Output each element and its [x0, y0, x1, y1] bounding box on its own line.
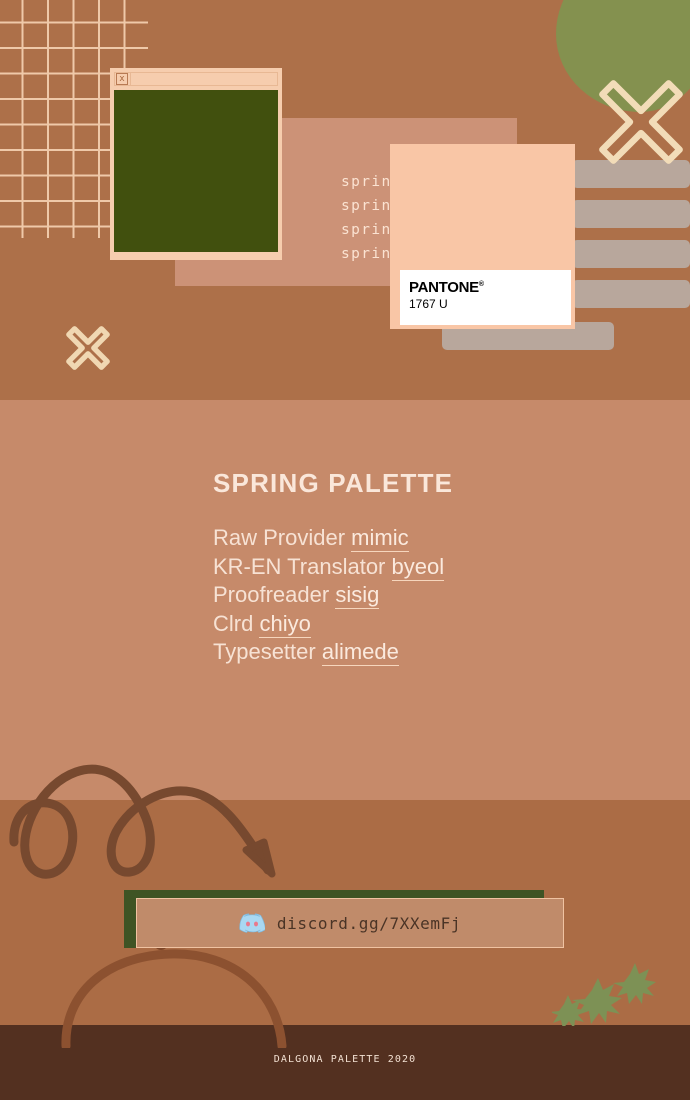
- leaf-cluster-icon: [552, 960, 672, 1026]
- poster-canvas: x spring palette spring palette spring p…: [0, 0, 690, 1100]
- curved-arrow-icon: [6, 722, 306, 882]
- discord-logo-icon: [239, 913, 265, 933]
- footer-caption: DALGONA PALETTE 2020: [0, 1054, 690, 1065]
- page-title: SPRING PALETTE: [213, 468, 633, 499]
- credit-role: Typesetter: [213, 639, 316, 664]
- credits-section: SPRING PALETTE Raw Provider mimic KR-EN …: [213, 468, 633, 667]
- credit-row: Clrd chiyo: [213, 610, 633, 639]
- discord-bar[interactable]: discord.gg/7XXemFj: [136, 898, 564, 948]
- retro-window: x: [110, 68, 282, 260]
- credit-name: mimic: [351, 525, 408, 552]
- pantone-brand-text: PANTONE: [409, 279, 479, 296]
- cross-outline-icon: [595, 76, 687, 168]
- discord-invite-link[interactable]: discord.gg/7XXemFj: [277, 914, 461, 933]
- grey-tab: [572, 200, 690, 228]
- grey-tab: [572, 280, 690, 308]
- pantone-swatch: [390, 144, 575, 270]
- credit-name: byeol: [392, 554, 445, 581]
- pantone-card: PANTONE® 1767 U: [390, 144, 575, 329]
- window-titlebar: x: [114, 72, 278, 86]
- credit-role: Proofreader: [213, 582, 329, 607]
- window-canvas: [114, 90, 278, 252]
- credit-role: KR-EN Translator: [213, 554, 385, 579]
- credit-role: Raw Provider: [213, 525, 345, 550]
- credit-row: Raw Provider mimic: [213, 524, 633, 553]
- credit-name: sisig: [335, 582, 379, 609]
- credit-row: Proofreader sisig: [213, 581, 633, 610]
- credit-role: Clrd: [213, 611, 253, 636]
- pantone-color-code: 1767 U: [409, 297, 562, 311]
- close-icon[interactable]: x: [116, 73, 128, 85]
- grey-tab: [572, 240, 690, 268]
- credit-name: chiyo: [259, 611, 310, 638]
- cross-outline-icon: [64, 324, 112, 372]
- credit-row: KR-EN Translator byeol: [213, 553, 633, 582]
- registered-mark-icon: ®: [479, 281, 484, 288]
- window-titlebar-fill: [130, 73, 277, 85]
- pantone-label: PANTONE® 1767 U: [400, 270, 571, 325]
- credit-name: alimede: [322, 639, 399, 666]
- discord-invite-bar[interactable]: discord.gg/7XXemFj: [124, 890, 564, 958]
- pantone-brand-name: PANTONE®: [409, 276, 562, 296]
- credit-row: Typesetter alimede: [213, 638, 633, 667]
